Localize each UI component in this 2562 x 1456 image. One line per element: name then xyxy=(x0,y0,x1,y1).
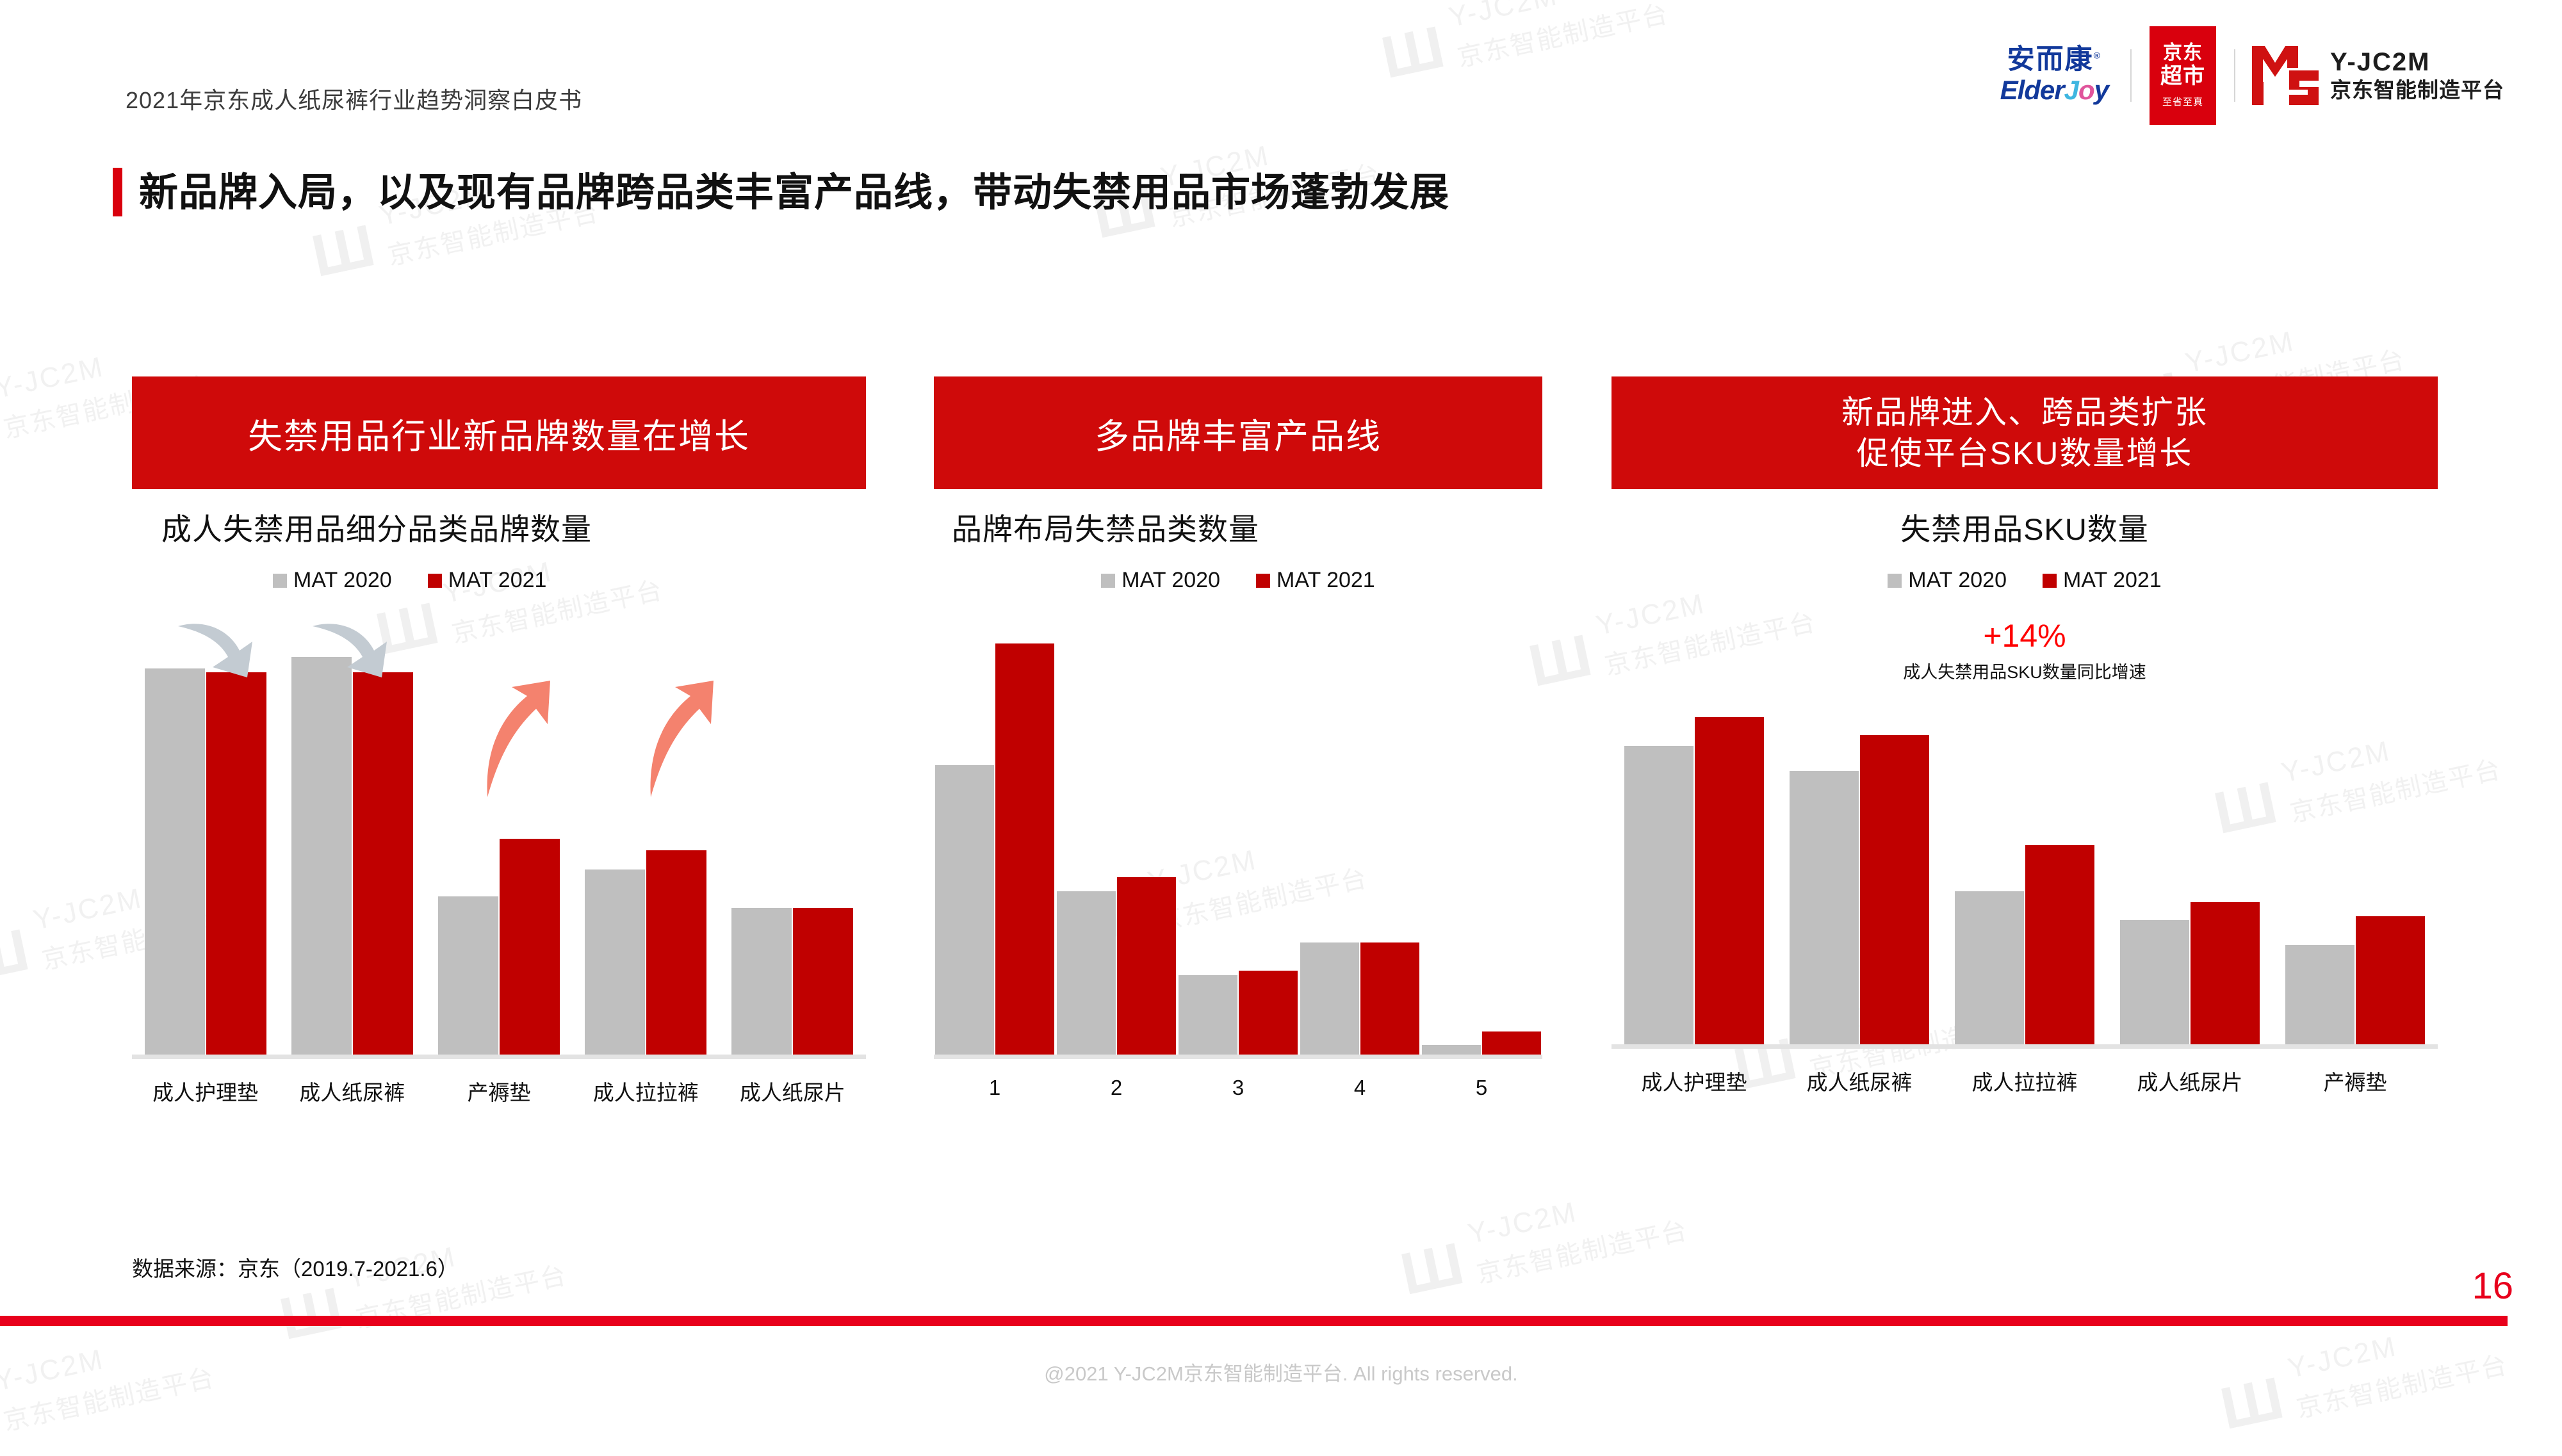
chart2-axis-line xyxy=(934,1055,1542,1059)
bar-mat2021 xyxy=(1239,971,1298,1055)
legend-label-mat2021: MAT 2021 xyxy=(1277,568,1375,593)
bar-mat2021 xyxy=(995,643,1054,1055)
panel2-legend: MAT 2020 MAT 2021 xyxy=(934,568,1542,593)
yjc2m-logo: Y-JC2M 京东智能制造平台 xyxy=(2251,45,2504,106)
chart-sku-count: 成人护理垫成人纸尿裤成人拉拉裤成人纸尿片产褥垫 xyxy=(1611,689,2438,1096)
bar-mat2020 xyxy=(2285,945,2354,1044)
bar-group xyxy=(2272,689,2438,1044)
arrow-down-icon xyxy=(310,606,393,683)
panel1-subtitle: 成人失禁用品细分品类品牌数量 xyxy=(161,505,866,549)
bar-mat2020 xyxy=(935,765,994,1055)
bar-group xyxy=(425,611,572,1055)
bar-group xyxy=(1942,689,2107,1044)
registered-icon: ® xyxy=(2094,51,2101,61)
x-axis-label: 3 xyxy=(1177,1076,1299,1100)
x-axis-label: 成人纸尿裤 xyxy=(279,1076,425,1106)
legend-label-mat2021: MAT 2021 xyxy=(448,568,547,593)
logo-divider xyxy=(2234,49,2235,102)
legend-swatch-red-icon xyxy=(428,574,442,588)
bar-mat2020 xyxy=(291,657,352,1055)
bar-group xyxy=(934,611,1056,1055)
bar-mat2021 xyxy=(1117,877,1176,1055)
panel3-subtitle: 失禁用品SKU数量 xyxy=(1611,505,2438,549)
x-axis-label: 成人纸尿片 xyxy=(719,1076,866,1106)
x-axis-label: 成人拉拉裤 xyxy=(573,1076,719,1106)
panel3-banner: 新品牌进入、跨品类扩张 促使平台SKU数量增长 xyxy=(1611,376,2438,489)
x-axis-label: 产褥垫 xyxy=(425,1076,572,1106)
panel3-legend: MAT 2020 MAT 2021 xyxy=(1611,568,2438,593)
bar-mat2020 xyxy=(1422,1045,1481,1055)
legend-label-mat2021: MAT 2021 xyxy=(2063,568,2162,593)
bar-group xyxy=(1299,611,1421,1055)
bar-group xyxy=(1777,689,1942,1044)
bar-mat2020 xyxy=(1179,975,1237,1055)
chart3-bar-groups xyxy=(1611,689,2438,1044)
chart1-axis-line xyxy=(132,1055,866,1059)
yjc2m-logo-cn: 京东智能制造平台 xyxy=(2330,79,2504,102)
panel-sku-count: 新品牌进入、跨品类扩张 促使平台SKU数量增长 失禁用品SKU数量 MAT 20… xyxy=(1611,376,2438,1096)
page-number: 16 xyxy=(2472,1265,2513,1307)
arrow-down-icon xyxy=(175,606,259,683)
jd-super-logo: 京东 超市 至省至真 xyxy=(2150,26,2216,125)
logo-divider xyxy=(2130,49,2132,102)
elderjoy-logo-en-1: Elder xyxy=(2000,75,2064,105)
legend-label-mat2020: MAT 2020 xyxy=(1908,568,2007,593)
bar-mat2020 xyxy=(1790,771,1859,1044)
sku-growth-annotation: +14% 成人失禁用品SKU数量同比增速 xyxy=(1611,620,2438,683)
legend-item-mat2020: MAT 2020 xyxy=(1888,568,2007,593)
x-axis-label: 1 xyxy=(934,1076,1056,1100)
chart2-x-labels: 12345 xyxy=(934,1076,1542,1100)
copyright-text: @2021 Y-JC2M京东智能制造平台. All rights reserve… xyxy=(0,1357,2562,1386)
panel3-banner-line2: 促使平台SKU数量增长 xyxy=(1841,433,2208,474)
data-source-note: 数据来源：京东（2019.7-2021.6） xyxy=(132,1252,459,1282)
jd-super-line3: 至省至真 xyxy=(2162,95,2203,108)
chart-brand-count: 成人护理垫成人纸尿裤产褥垫成人拉拉裤成人纸尿片 xyxy=(132,611,866,1106)
jd-super-line1: 京东 xyxy=(2163,42,2203,63)
watermark-cn: 京东智能制造平台 xyxy=(1473,1209,1691,1291)
x-axis-label: 成人护理垫 xyxy=(1611,1065,1777,1096)
panel1-legend: MAT 2020 MAT 2021 xyxy=(273,568,866,593)
bar-group xyxy=(1421,611,1542,1055)
chart1-x-labels: 成人护理垫成人纸尿裤产褥垫成人拉拉裤成人纸尿片 xyxy=(132,1076,866,1106)
bar-mat2021 xyxy=(1860,735,1929,1044)
panel3-banner-line1: 新品牌进入、跨品类扩张 xyxy=(1841,392,2208,433)
watermark-en: Y-JC2M xyxy=(2183,303,2400,380)
legend-item-mat2021: MAT 2021 xyxy=(2043,568,2162,593)
bar-mat2020 xyxy=(2120,920,2189,1044)
bar-mat2021 xyxy=(2025,845,2094,1044)
panel-brand-count: 失禁用品行业新品牌数量在增长 成人失禁用品细分品类品牌数量 MAT 2020 M… xyxy=(132,376,866,1106)
bar-group xyxy=(1177,611,1299,1055)
watermark: ꟺ Y-JC2M京东智能制造平台 xyxy=(1392,1174,1691,1306)
yjc2m-mark-icon: ꟺ xyxy=(1393,1227,1465,1302)
elderjoy-logo-en-3: o xyxy=(2078,75,2094,105)
sku-growth-percent: +14% xyxy=(1611,620,2438,652)
arrow-up-icon xyxy=(644,678,721,800)
bar-mat2021 xyxy=(2356,916,2425,1044)
panel-category-count: 多品牌丰富产品线 品牌布局失禁品类数量 MAT 2020 MAT 2021 12… xyxy=(934,376,1542,1100)
legend-swatch-gray-icon xyxy=(273,574,287,588)
bar-mat2021 xyxy=(1360,942,1419,1055)
legend-item-mat2020: MAT 2020 xyxy=(273,568,392,593)
x-axis-label: 2 xyxy=(1056,1076,1177,1100)
bar-mat2020 xyxy=(145,668,205,1055)
yjc2m-logo-en: Y-JC2M xyxy=(2330,49,2504,76)
bar-mat2021 xyxy=(1695,717,1764,1044)
legend-swatch-gray-icon xyxy=(1101,574,1115,588)
x-axis-label: 5 xyxy=(1421,1076,1542,1100)
legend-item-mat2020: MAT 2020 xyxy=(1101,568,1220,593)
footer-rule xyxy=(0,1316,2508,1326)
legend-label-mat2020: MAT 2020 xyxy=(293,568,392,593)
legend-swatch-red-icon xyxy=(2043,574,2057,588)
bar-mat2021 xyxy=(500,839,560,1055)
yjc2m-mark-icon: ꟺ xyxy=(304,209,377,284)
logo-bar: 安而康® ElderJoy 京东 超市 至省至真 Y-JC2M 京东智能制造平台 xyxy=(2000,38,2504,112)
bar-mat2021 xyxy=(793,908,853,1055)
bar-group xyxy=(1611,689,1777,1044)
elderjoy-logo-en-2: J xyxy=(2064,75,2078,105)
arrow-up-icon xyxy=(481,678,558,800)
bar-mat2021 xyxy=(1482,1031,1541,1055)
chart2-bar-groups xyxy=(934,611,1542,1055)
document-title: 2021年京东成人纸尿裤行业趋势洞察白皮书 xyxy=(126,82,582,115)
elderjoy-logo-en-4: y xyxy=(2094,75,2109,105)
slide-heading: 新品牌入局，以及现有品牌跨品类丰富产品线，带动失禁用品市场蓬勃发展 xyxy=(113,168,1449,216)
watermark: ꟺ Y-JC2M京东智能制造平台 xyxy=(271,1219,570,1351)
panel1-banner: 失禁用品行业新品牌数量在增长 xyxy=(132,376,866,489)
x-axis-label: 成人纸尿片 xyxy=(2107,1065,2272,1096)
bar-mat2021 xyxy=(206,672,266,1055)
bar-mat2020 xyxy=(1624,746,1693,1044)
bar-mat2021 xyxy=(646,850,706,1055)
legend-item-mat2021: MAT 2021 xyxy=(428,568,547,593)
watermark-en: Y-JC2M xyxy=(1465,1174,1683,1250)
bar-mat2020 xyxy=(731,908,792,1055)
yjc2m-mark-icon: ꟺ xyxy=(0,913,31,988)
watermark-cn: 京东智能制造平台 xyxy=(1453,0,1672,74)
jd-super-line2: 超市 xyxy=(2160,65,2205,88)
bar-mat2020 xyxy=(1955,891,2024,1044)
chart3-axis-line xyxy=(1611,1044,2438,1049)
bar-group xyxy=(2107,689,2272,1044)
bar-mat2020 xyxy=(1300,942,1359,1055)
chart3-x-labels: 成人护理垫成人纸尿裤成人拉拉裤成人纸尿片产褥垫 xyxy=(1611,1065,2438,1096)
x-axis-label: 成人纸尿裤 xyxy=(1777,1065,1942,1096)
legend-item-mat2021: MAT 2021 xyxy=(1256,568,1375,593)
bar-mat2020 xyxy=(1057,891,1116,1055)
watermark-en: Y-JC2M xyxy=(1446,0,1663,34)
legend-swatch-red-icon xyxy=(1256,574,1270,588)
watermark: ꟺ Y-JC2M京东智能制造平台 xyxy=(0,1322,218,1453)
bar-group xyxy=(719,611,866,1055)
x-axis-label: 4 xyxy=(1299,1076,1421,1100)
yjc2m-mark-icon xyxy=(2251,45,2320,106)
panel2-subtitle: 品牌布局失禁品类数量 xyxy=(952,505,1542,549)
panel2-banner: 多品牌丰富产品线 xyxy=(934,376,1542,489)
elderjoy-logo-cn: 安而康 xyxy=(2007,44,2094,75)
sku-growth-note: 成人失禁用品SKU数量同比增速 xyxy=(1611,658,2438,683)
x-axis-label: 成人拉拉裤 xyxy=(1942,1065,2107,1096)
x-axis-label: 成人护理垫 xyxy=(132,1076,279,1106)
bar-group xyxy=(1056,611,1177,1055)
bar-mat2021 xyxy=(2191,902,2260,1044)
bar-mat2020 xyxy=(585,870,645,1055)
yjc2m-mark-icon: ꟺ xyxy=(1374,10,1446,85)
watermark: ꟺ Y-JC2M京东智能制造平台 xyxy=(1373,0,1672,90)
bar-group xyxy=(573,611,719,1055)
heading-accent-bar xyxy=(113,168,122,216)
heading-text: 新品牌入局，以及现有品牌跨品类丰富产品线，带动失禁用品市场蓬勃发展 xyxy=(139,168,1449,216)
x-axis-label: 产褥垫 xyxy=(2272,1065,2438,1096)
elderjoy-logo: 安而康® ElderJoy xyxy=(2000,46,2130,104)
yjc2m-mark-icon: ꟺ xyxy=(272,1272,345,1347)
chart-category-count: 12345 xyxy=(934,611,1542,1100)
bar-mat2020 xyxy=(438,896,498,1055)
bar-mat2021 xyxy=(353,672,413,1055)
legend-swatch-gray-icon xyxy=(1888,574,1902,588)
legend-label-mat2020: MAT 2020 xyxy=(1122,568,1220,593)
